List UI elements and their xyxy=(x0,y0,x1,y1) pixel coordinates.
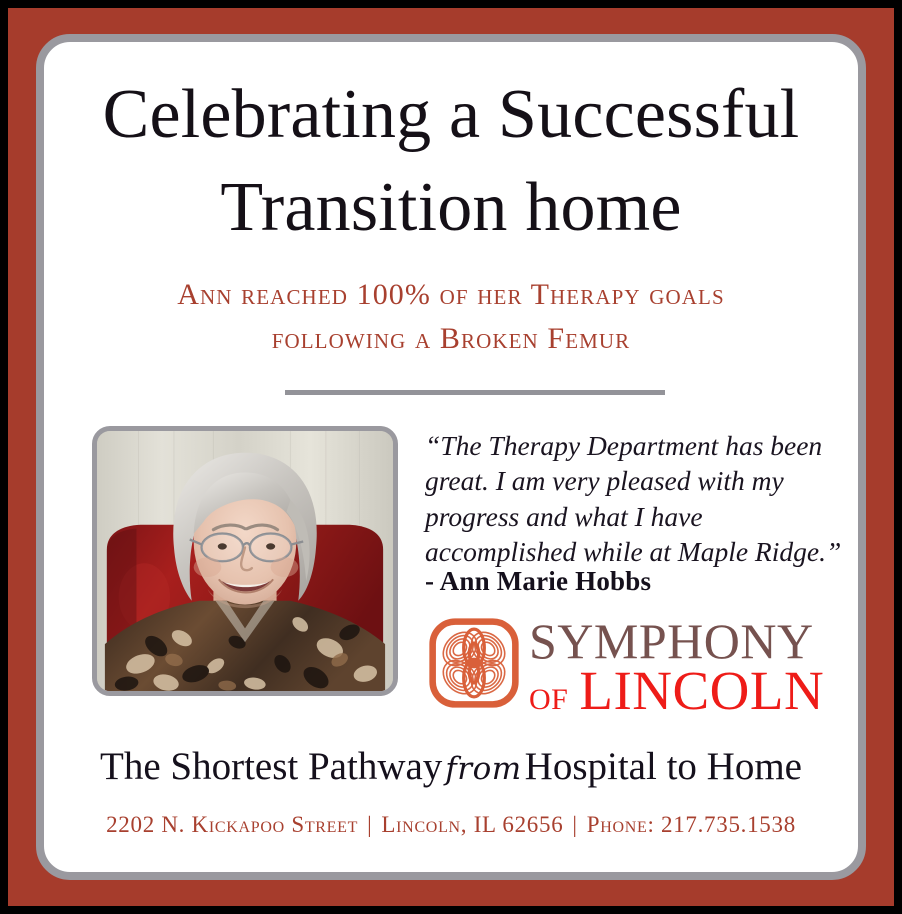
horizontal-divider xyxy=(285,390,665,395)
subtitle-line-1: Ann reached 100% of her Therapy goals xyxy=(74,273,828,317)
logo-of-text: OF xyxy=(529,683,568,717)
page-title: Celebrating a Successful Transition home xyxy=(44,68,858,254)
logo-wordmark: SYMPHONY OF LINCOLN xyxy=(529,614,847,714)
logo-lincoln-text: LINCOLN xyxy=(579,662,824,720)
poster-card: Celebrating a Successful Transition home… xyxy=(36,34,866,880)
tagline-part-2: Hospital to Home xyxy=(525,745,802,788)
testimonial-quote: “The Therapy Department has been great. … xyxy=(425,428,845,570)
address-city-state-zip: Lincoln, IL 62656 xyxy=(381,812,563,837)
address-street: 2202 N. Kickapoo Street xyxy=(106,812,358,837)
logo-of-lincoln-line: OF LINCOLN xyxy=(529,662,824,720)
address-line: 2202 N. Kickapoo Street|Lincoln, IL 6265… xyxy=(44,812,858,838)
poster-card-inner: Celebrating a Successful Transition home… xyxy=(44,42,858,872)
symphony-of-lincoln-logo: SYMPHONY OF LINCOLN xyxy=(427,614,847,716)
headline-line-1: Celebrating a Successful xyxy=(44,68,858,161)
tagline-script-word: from xyxy=(442,751,524,787)
address-separator-2: | xyxy=(563,812,586,837)
address-phone: Phone: 217.735.1538 xyxy=(587,812,796,837)
subtitle-line-2: following a Broken Femur xyxy=(74,317,828,361)
address-separator-1: | xyxy=(358,812,381,837)
tagline-part-1: The Shortest Pathway xyxy=(100,745,442,788)
resident-photo xyxy=(92,426,398,696)
testimonial-attribution: - Ann Marie Hobbs xyxy=(425,566,651,597)
tagline: The Shortest PathwayfromHospital to Home xyxy=(44,744,858,789)
poster-root: Celebrating a Successful Transition home… xyxy=(0,0,902,914)
portrait-illustration xyxy=(97,431,393,691)
headline-line-2: Transition home xyxy=(44,161,858,254)
symphony-loops-icon xyxy=(427,616,521,710)
page-subtitle: Ann reached 100% of her Therapy goals fo… xyxy=(74,273,828,361)
